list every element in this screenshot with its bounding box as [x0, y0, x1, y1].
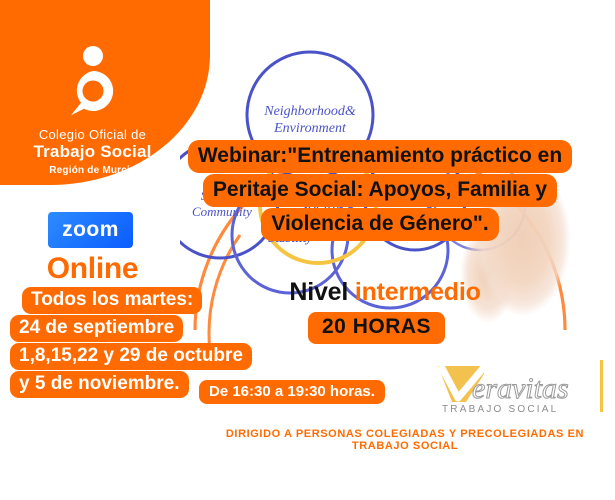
- promo-poster: Neighborhood& Environment Social& Commun…: [0, 0, 615, 500]
- hours-badge: 20 HORAS: [308, 312, 445, 344]
- level-row: Nivel intermedio: [250, 278, 520, 307]
- date-line: 24 de septiembre: [10, 315, 183, 342]
- level-value: intermedio: [355, 278, 481, 306]
- diagram-label-neighborhood-2: Environment: [273, 121, 347, 136]
- online-label: Online: [0, 252, 185, 286]
- title-line: Webinar:"Entrenamiento práctico en: [188, 140, 572, 173]
- webinar-title: Webinar:"Entrenamiento práctico en Perit…: [180, 140, 580, 242]
- brand-block: Colegio Oficial de Trabajo Social Región…: [0, 45, 185, 176]
- brand-line-3: Región de Murcia: [0, 165, 185, 176]
- veravitas-logo: eravitas TRABAJO SOCIAL: [432, 358, 592, 416]
- diagram-label-neighborhood-1: Neighborhood&: [263, 104, 356, 119]
- colegio-logo-icon: [63, 45, 123, 117]
- title-line: Peritaje Social: Apoyos, Familia y: [203, 174, 557, 207]
- brand-line-1: Colegio Oficial de: [0, 127, 185, 142]
- footer-note: DIRIGIDO A PERSONAS COLEGIADAS Y PRECOLE…: [205, 428, 605, 452]
- zoom-logo: zoom: [48, 212, 133, 248]
- title-line: Violencia de Género".: [261, 208, 498, 241]
- date-line: Todos los martes:: [22, 287, 202, 314]
- veravitas-wordmark: eravitas: [472, 372, 569, 405]
- logo-divider: [600, 360, 603, 412]
- veravitas-tagline: TRABAJO SOCIAL: [442, 404, 558, 415]
- date-line: y 5 de noviembre.: [10, 371, 189, 398]
- schedule-badge: De 16:30 a 19:30 horas.: [199, 380, 385, 404]
- level-prefix: Nivel: [289, 278, 348, 306]
- brand-line-2: Trabajo Social: [0, 142, 185, 162]
- date-line: 1,8,15,22 y 29 de octubre: [10, 343, 252, 370]
